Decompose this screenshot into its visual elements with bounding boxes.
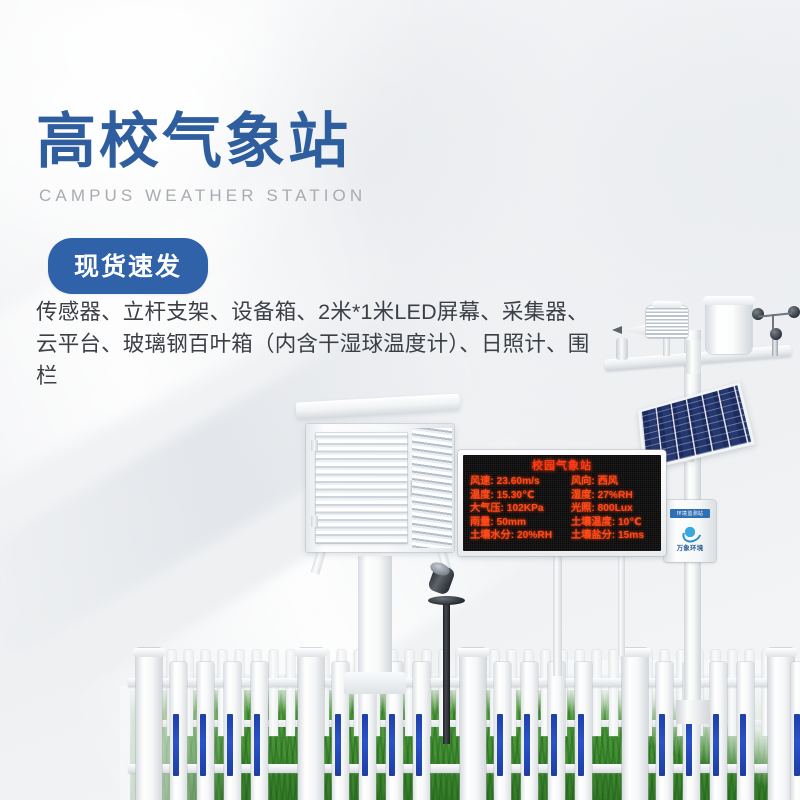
enclosure-banner-label: 环境监测站 bbox=[670, 509, 710, 518]
fence-post bbox=[460, 648, 486, 800]
brand-name-label: 万象环境 bbox=[664, 542, 716, 552]
product-poster: 高校气象站 CAMPUS WEATHER STATION 现货速发 传感器、立杆… bbox=[0, 0, 800, 800]
led-row: 大气压: 102KPa光照: 800Lux bbox=[470, 502, 654, 516]
radiation-shield-icon bbox=[646, 306, 688, 338]
fence-post bbox=[622, 648, 648, 800]
stevenson-screen-box bbox=[306, 424, 454, 552]
anemometer-icon bbox=[752, 306, 800, 346]
fence-picket bbox=[791, 662, 800, 800]
led-reading-right: 土壤温度: 10℃ bbox=[571, 516, 642, 530]
page-title: 高校气象站 bbox=[36, 112, 366, 172]
led-row: 土壤水分: 20%RH土壤盐分: 15ms bbox=[470, 529, 654, 543]
stevenson-screen-door bbox=[315, 432, 408, 544]
fence-picket bbox=[413, 662, 430, 800]
rain-gauge-icon bbox=[706, 300, 752, 354]
product-description: 传感器、立杆支架、设备箱、2米*1米LED屏幕、采集器、云平台、玻璃钢百叶箱（内… bbox=[36, 296, 596, 392]
led-reading-right: 土壤盐分: 15ms bbox=[571, 529, 644, 543]
mast-base bbox=[676, 700, 709, 724]
fence-picket bbox=[656, 662, 673, 800]
fence-picket bbox=[710, 662, 727, 800]
fence-post bbox=[136, 648, 162, 800]
stevenson-pedestal-foot bbox=[344, 672, 406, 694]
fence-picket bbox=[224, 662, 241, 800]
led-support-pole-right bbox=[618, 556, 625, 656]
led-reading-right: 风向: 西风 bbox=[571, 475, 618, 489]
wind-vane-pointer bbox=[612, 326, 622, 334]
spotlight-post bbox=[443, 604, 450, 744]
fence-picket bbox=[251, 662, 268, 800]
fence-post bbox=[298, 648, 324, 800]
led-display-panel: 校园气象站 风速: 23.60m/s风向: 西风温度: 15.30℃湿度: 27… bbox=[458, 450, 666, 556]
led-reading-left: 风速: 23.60m/s bbox=[470, 475, 571, 489]
fence-picket bbox=[521, 662, 538, 800]
stevenson-pedestal bbox=[358, 556, 392, 678]
fence-picket bbox=[197, 662, 214, 800]
stevenson-screen-roof bbox=[296, 393, 461, 418]
status-badge: 现货速发 bbox=[48, 238, 208, 294]
led-reading-right: 湿度: 27%RH bbox=[571, 489, 633, 503]
led-title: 校园气象站 bbox=[470, 460, 654, 473]
page-subtitle: CAMPUS WEATHER STATION bbox=[39, 186, 366, 206]
led-row: 温度: 15.30℃湿度: 27%RH bbox=[470, 489, 654, 503]
anemometer-cup bbox=[752, 308, 764, 320]
fence-picket bbox=[575, 662, 592, 800]
led-support-pole-left bbox=[553, 556, 562, 676]
wind-vane-fin bbox=[622, 324, 648, 336]
fence-picket bbox=[494, 662, 511, 800]
equipment-enclosure: 环境监测站 万象环境 bbox=[664, 500, 716, 562]
radiation-shield-stem bbox=[663, 336, 670, 356]
led-reading-left: 大气压: 102KPa bbox=[470, 502, 571, 516]
headline-block: 高校气象站 CAMPUS WEATHER STATION bbox=[36, 112, 366, 206]
stevenson-screen-side-louvers bbox=[412, 428, 452, 548]
spotlight-base bbox=[428, 596, 465, 605]
led-readout-rows: 风速: 23.60m/s风向: 西风温度: 15.30℃湿度: 27%RH大气压… bbox=[470, 475, 654, 543]
led-reading-left: 土壤水分: 20%RH bbox=[470, 529, 571, 543]
led-row: 雨量: 50mm土壤温度: 10℃ bbox=[470, 516, 654, 530]
led-reading-left: 雨量: 50mm bbox=[470, 516, 571, 530]
fence-picket bbox=[170, 662, 187, 800]
stevenson-screen-hinge-top bbox=[311, 440, 318, 451]
led-screen: 校园气象站 风速: 23.60m/s风向: 西风温度: 15.30℃湿度: 27… bbox=[463, 455, 661, 551]
led-reading-left: 温度: 15.30℃ bbox=[470, 489, 571, 503]
anemometer-arm bbox=[772, 314, 774, 330]
stevenson-screen-latch bbox=[407, 480, 412, 497]
wind-vane-icon bbox=[612, 322, 648, 344]
fence-picket bbox=[548, 662, 565, 800]
brand-logo-icon bbox=[681, 524, 699, 540]
led-reading-right: 光照: 800Lux bbox=[571, 502, 633, 516]
fence-picket bbox=[737, 662, 754, 800]
crossarm-hub bbox=[686, 340, 701, 374]
led-row: 风速: 23.60m/s风向: 西风 bbox=[470, 475, 654, 489]
stevenson-screen-hinge-bottom bbox=[311, 516, 318, 527]
